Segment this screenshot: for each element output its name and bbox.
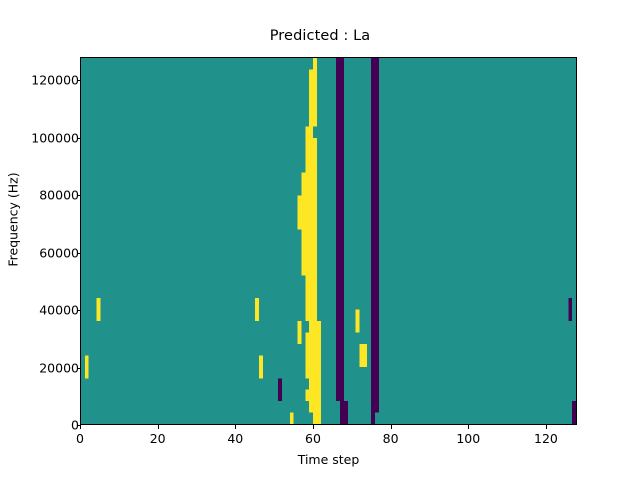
- y-tick-label: 20000: [39, 360, 79, 375]
- x-tick-mark: [313, 425, 314, 429]
- y-tick-label: 60000: [39, 245, 79, 260]
- spectrogram-axes: [80, 57, 577, 425]
- x-tick-mark: [80, 425, 81, 429]
- x-tick-mark: [546, 425, 547, 429]
- x-tick-label: 100: [456, 431, 480, 446]
- x-tick-label: 40: [227, 431, 243, 446]
- y-tick-label: 40000: [39, 303, 79, 318]
- x-tick-label: 120: [534, 431, 558, 446]
- figure-canvas: Predicted : La 020406080100120 020000400…: [0, 0, 640, 480]
- x-tick-mark: [468, 425, 469, 429]
- x-tick-mark: [158, 425, 159, 429]
- y-tick-label: 0: [71, 418, 79, 433]
- heatmap-image: [81, 58, 576, 424]
- y-tick-label: 80000: [39, 188, 79, 203]
- chart-title: Predicted : La: [0, 28, 640, 44]
- y-axis-label: Frequency (Hz): [6, 130, 21, 310]
- y-tick-label: 100000: [31, 130, 79, 145]
- x-tick-mark: [391, 425, 392, 429]
- y-tick-label: 120000: [31, 73, 79, 88]
- x-tick-label: 0: [76, 431, 84, 446]
- x-tick-label: 60: [305, 431, 321, 446]
- x-axis-label: Time step: [80, 452, 577, 467]
- x-tick-label: 80: [383, 431, 399, 446]
- x-tick-mark: [235, 425, 236, 429]
- x-tick-label: 20: [150, 431, 166, 446]
